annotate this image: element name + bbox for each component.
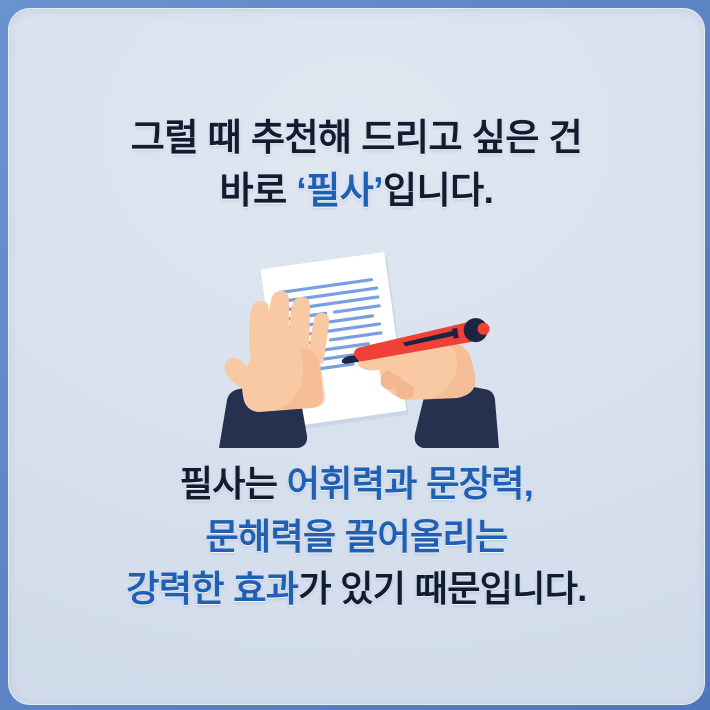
promo-card: 그럴 때 추천해 드리고 싶은 건 바로 ‘필사’입니다. — [0, 0, 710, 710]
subhead-line-2-accent: 문해력을 끌어올리는 — [205, 516, 507, 557]
subhead-line-2: 문해력을 끌어올리는 — [8, 511, 705, 564]
headline-line-2-prefix: 바로 — [220, 170, 297, 211]
subhead-line-1: 필사는 어휘력과 문장력, — [8, 458, 705, 511]
headline-line-1: 그럴 때 추천해 드리고 싶은 건 — [8, 112, 705, 165]
subhead-line-1-plain: 필사는 — [180, 463, 287, 504]
subhead-line-1-accent: 어휘력과 문장력, — [287, 463, 533, 504]
card-inner-panel: 그럴 때 추천해 드리고 싶은 건 바로 ‘필사’입니다. — [8, 8, 705, 705]
hands-writing-illustration — [207, 248, 507, 448]
headline-keyword: ‘필사’ — [296, 170, 383, 211]
subhead: 필사는 어휘력과 문장력, 문해력을 끌어올리는 강력한 효과가 있기 때문입니… — [8, 458, 705, 616]
headline-line-2-suffix: 입니다. — [383, 170, 493, 211]
subhead-line-3-plain: 가 있기 때문입니다. — [298, 568, 586, 609]
subhead-line-3: 강력한 효과가 있기 때문입니다. — [8, 563, 705, 616]
headline-line-2: 바로 ‘필사’입니다. — [8, 165, 705, 218]
headline: 그럴 때 추천해 드리고 싶은 건 바로 ‘필사’입니다. — [8, 112, 705, 217]
subhead-line-3-accent: 강력한 효과 — [126, 568, 298, 609]
